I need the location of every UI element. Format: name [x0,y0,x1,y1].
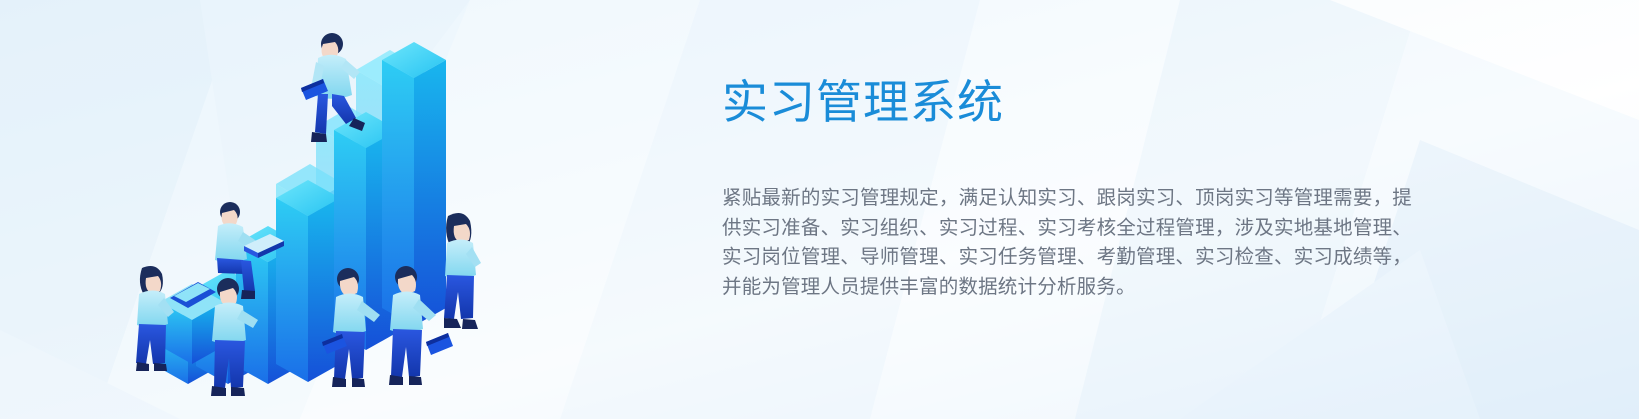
banner-description: 紧贴最新的实习管理规定，满足认知实习、跟岗实习、顶岗实习等管理需要，提供实习准备… [722,130,1412,302]
hero-banner: 实习管理系统 紧贴最新的实习管理规定，满足认知实习、跟岗实习、顶岗实习等管理需要… [0,0,1639,419]
banner-text-block: 实习管理系统 紧贴最新的实习管理规定，满足认知实习、跟岗实习、顶岗实习等管理需要… [722,74,1412,302]
illustration-growth-chart [120,10,520,410]
page-title: 实习管理系统 [722,74,1412,130]
person-woman-right [444,213,481,329]
